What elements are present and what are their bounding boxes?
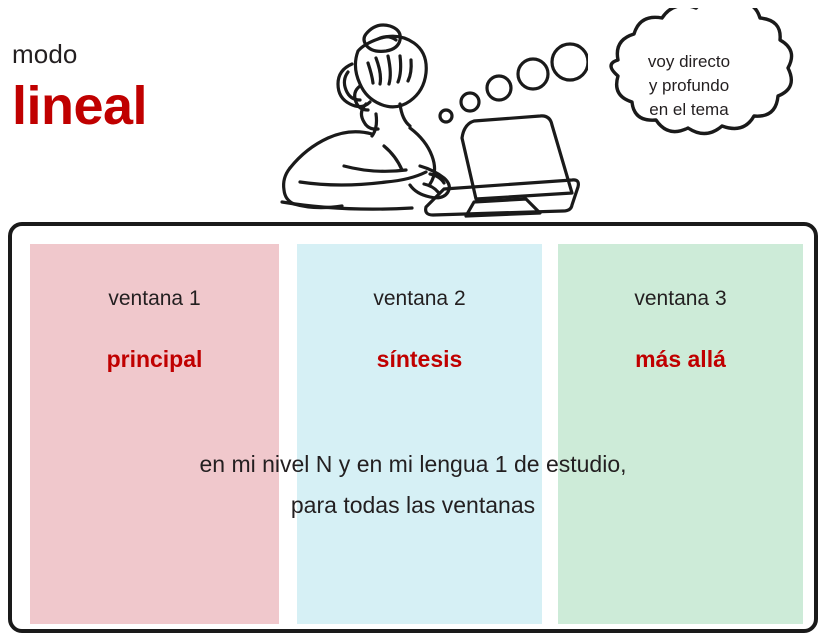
window-column-1[interactable]: ventana 1 principal	[30, 244, 279, 624]
window-2-value: síntesis	[297, 345, 542, 373]
person-studying-at-laptop-illustration	[248, 6, 588, 218]
heading-title: lineal	[12, 76, 272, 136]
thought-line-3: en el tema	[649, 98, 728, 122]
window-column-3[interactable]: ventana 3 más allá	[558, 244, 803, 624]
heading-block: modo lineal	[12, 38, 272, 136]
heading-kicker: modo	[12, 38, 272, 70]
thought-cloud-text: voy directo y profundo en el tema	[556, 8, 822, 160]
window-3-label: ventana 3	[558, 286, 803, 312]
slide-canvas: modo lineal	[0, 0, 826, 644]
window-3-value: más allá	[558, 345, 803, 373]
window-1-value: principal	[30, 345, 279, 373]
window-1-label: ventana 1	[30, 286, 279, 312]
thought-line-2: y profundo	[649, 74, 729, 98]
window-2-label: ventana 2	[297, 286, 542, 312]
window-column-2[interactable]: ventana 2 síntesis	[297, 244, 542, 624]
thought-line-1: voy directo	[648, 50, 730, 74]
thought-cloud: voy directo y profundo en el tema	[556, 8, 822, 160]
windows-panel: ventana 1 principal ventana 2 síntesis v…	[8, 222, 818, 633]
